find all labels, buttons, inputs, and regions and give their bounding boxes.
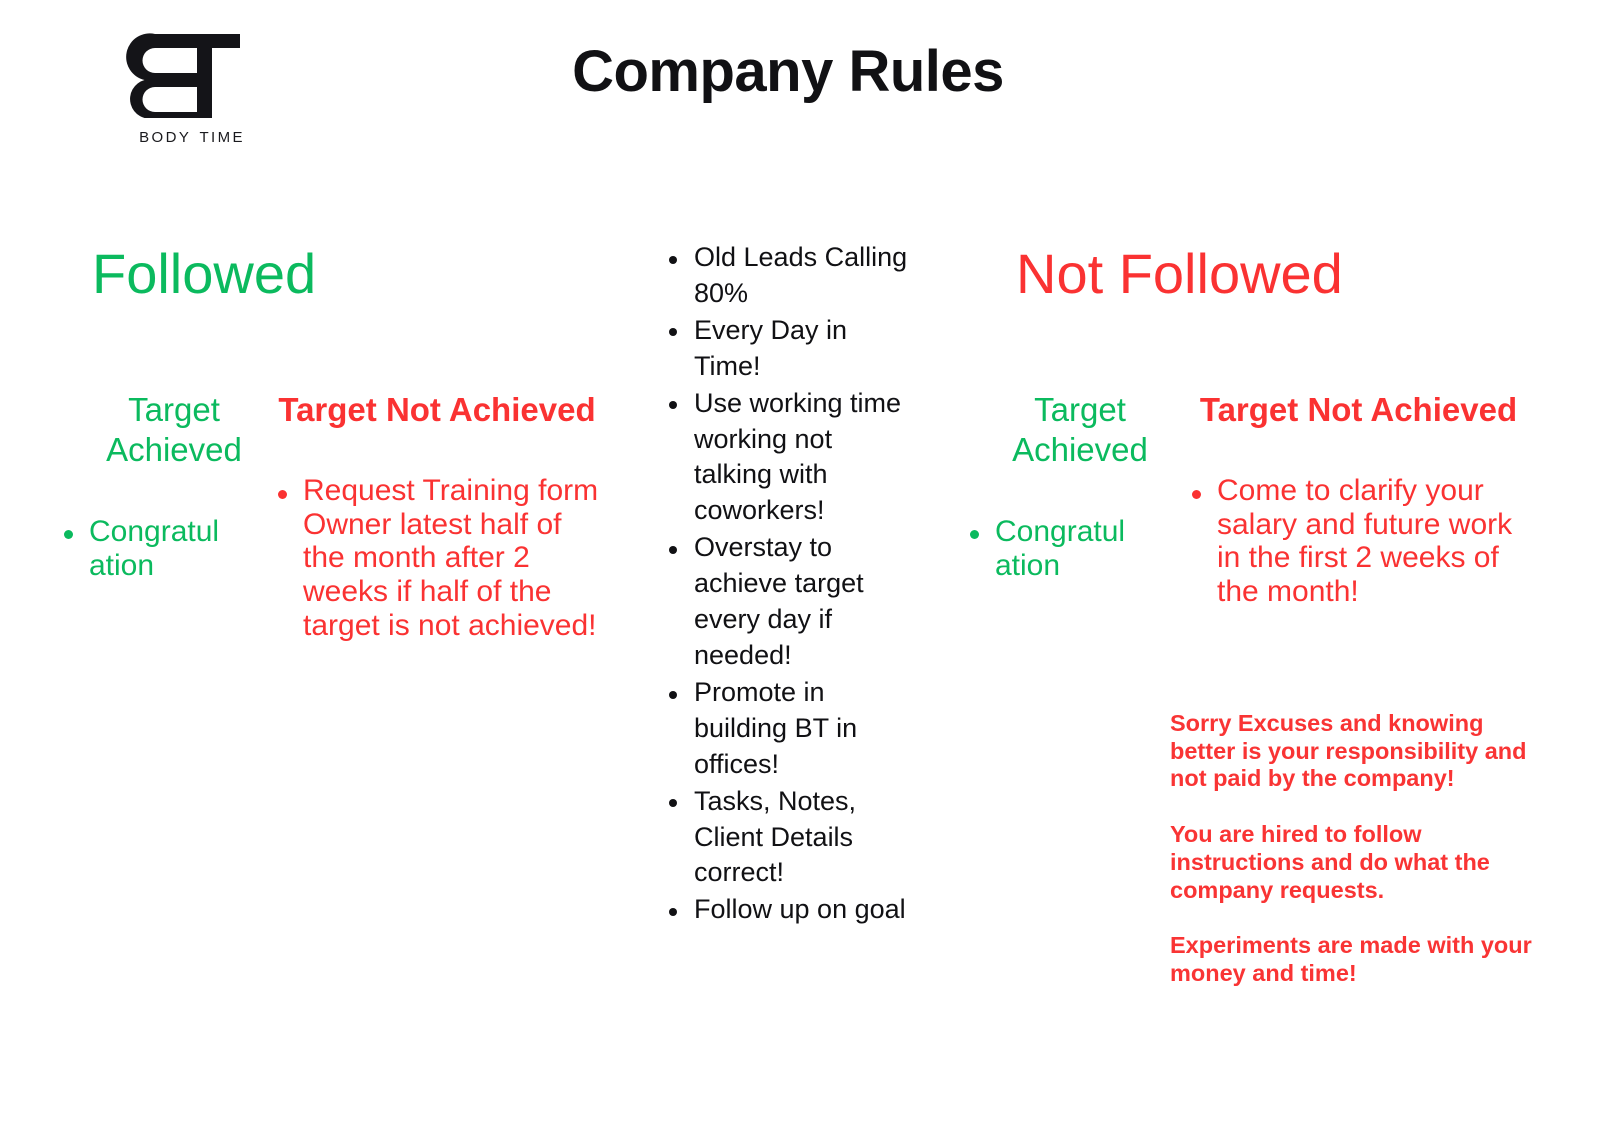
- list-item: Overstay to achieve target every day if …: [660, 530, 912, 674]
- list-item: Old Leads Calling 80%: [660, 240, 912, 312]
- list-item: Congratul ation: [964, 515, 1196, 583]
- list-item: Congratul ation: [58, 515, 290, 583]
- subcolumn-title: Target Achieved: [964, 390, 1196, 471]
- list-item: Use working time working not talking wit…: [660, 386, 912, 530]
- subcolumn-title: Target Not Achieved: [1186, 390, 1531, 430]
- subcolumn-list-wrap: Congratul ation: [58, 515, 290, 583]
- policy-notes: Sorry Excuses and knowing better is your…: [1170, 710, 1542, 988]
- subcolumn-title: Target Not Achieved: [272, 390, 602, 430]
- list-item: Request Training form Owner latest half …: [272, 474, 602, 642]
- bullet-list: Congratul ation: [964, 515, 1196, 583]
- page-title: Company Rules: [0, 40, 1600, 104]
- subcolumn-title: Target Achieved: [58, 390, 290, 471]
- list-item: Tasks, Notes, Client Details correct!: [660, 784, 912, 892]
- list-item: Come to clarify your salary and future w…: [1186, 474, 1531, 608]
- policy-note: Sorry Excuses and knowing better is your…: [1170, 710, 1542, 793]
- company-rules-list: Old Leads Calling 80% Every Day in Time!…: [660, 240, 912, 929]
- list-item: Promote in building BT in offices!: [660, 675, 912, 783]
- brand-wordmark: Body Time: [112, 124, 272, 148]
- bullet-list: Come to clarify your salary and future w…: [1186, 474, 1531, 608]
- subcolumn-list-wrap: Request Training form Owner latest half …: [272, 474, 602, 642]
- list-item: Every Day in Time!: [660, 313, 912, 385]
- followed-target-not-achieved-block: Target Not Achieved Request Training for…: [272, 390, 602, 642]
- policy-note: Experiments are made with your money and…: [1170, 932, 1542, 987]
- not-followed-target-achieved-block: Target Achieved Congratul ation: [964, 390, 1196, 583]
- bullet-list: Request Training form Owner latest half …: [272, 474, 602, 642]
- not-followed-target-not-achieved-block: Target Not Achieved Come to clarify your…: [1186, 390, 1531, 609]
- followed-target-achieved-block: Target Achieved Congratul ation: [58, 390, 290, 583]
- subcolumn-list-wrap: Congratul ation: [964, 515, 1196, 583]
- list-item: Follow up on goal: [660, 892, 912, 928]
- policy-note: You are hired to follow instructions and…: [1170, 821, 1542, 904]
- bullet-list: Congratul ation: [58, 515, 290, 583]
- section-heading-not-followed: Not Followed: [1016, 243, 1343, 305]
- page-title-text: Company Rules: [572, 40, 1004, 104]
- section-heading-followed: Followed: [92, 243, 316, 305]
- subcolumn-list-wrap: Come to clarify your salary and future w…: [1186, 474, 1531, 608]
- bullet-list: Old Leads Calling 80% Every Day in Time!…: [660, 240, 912, 928]
